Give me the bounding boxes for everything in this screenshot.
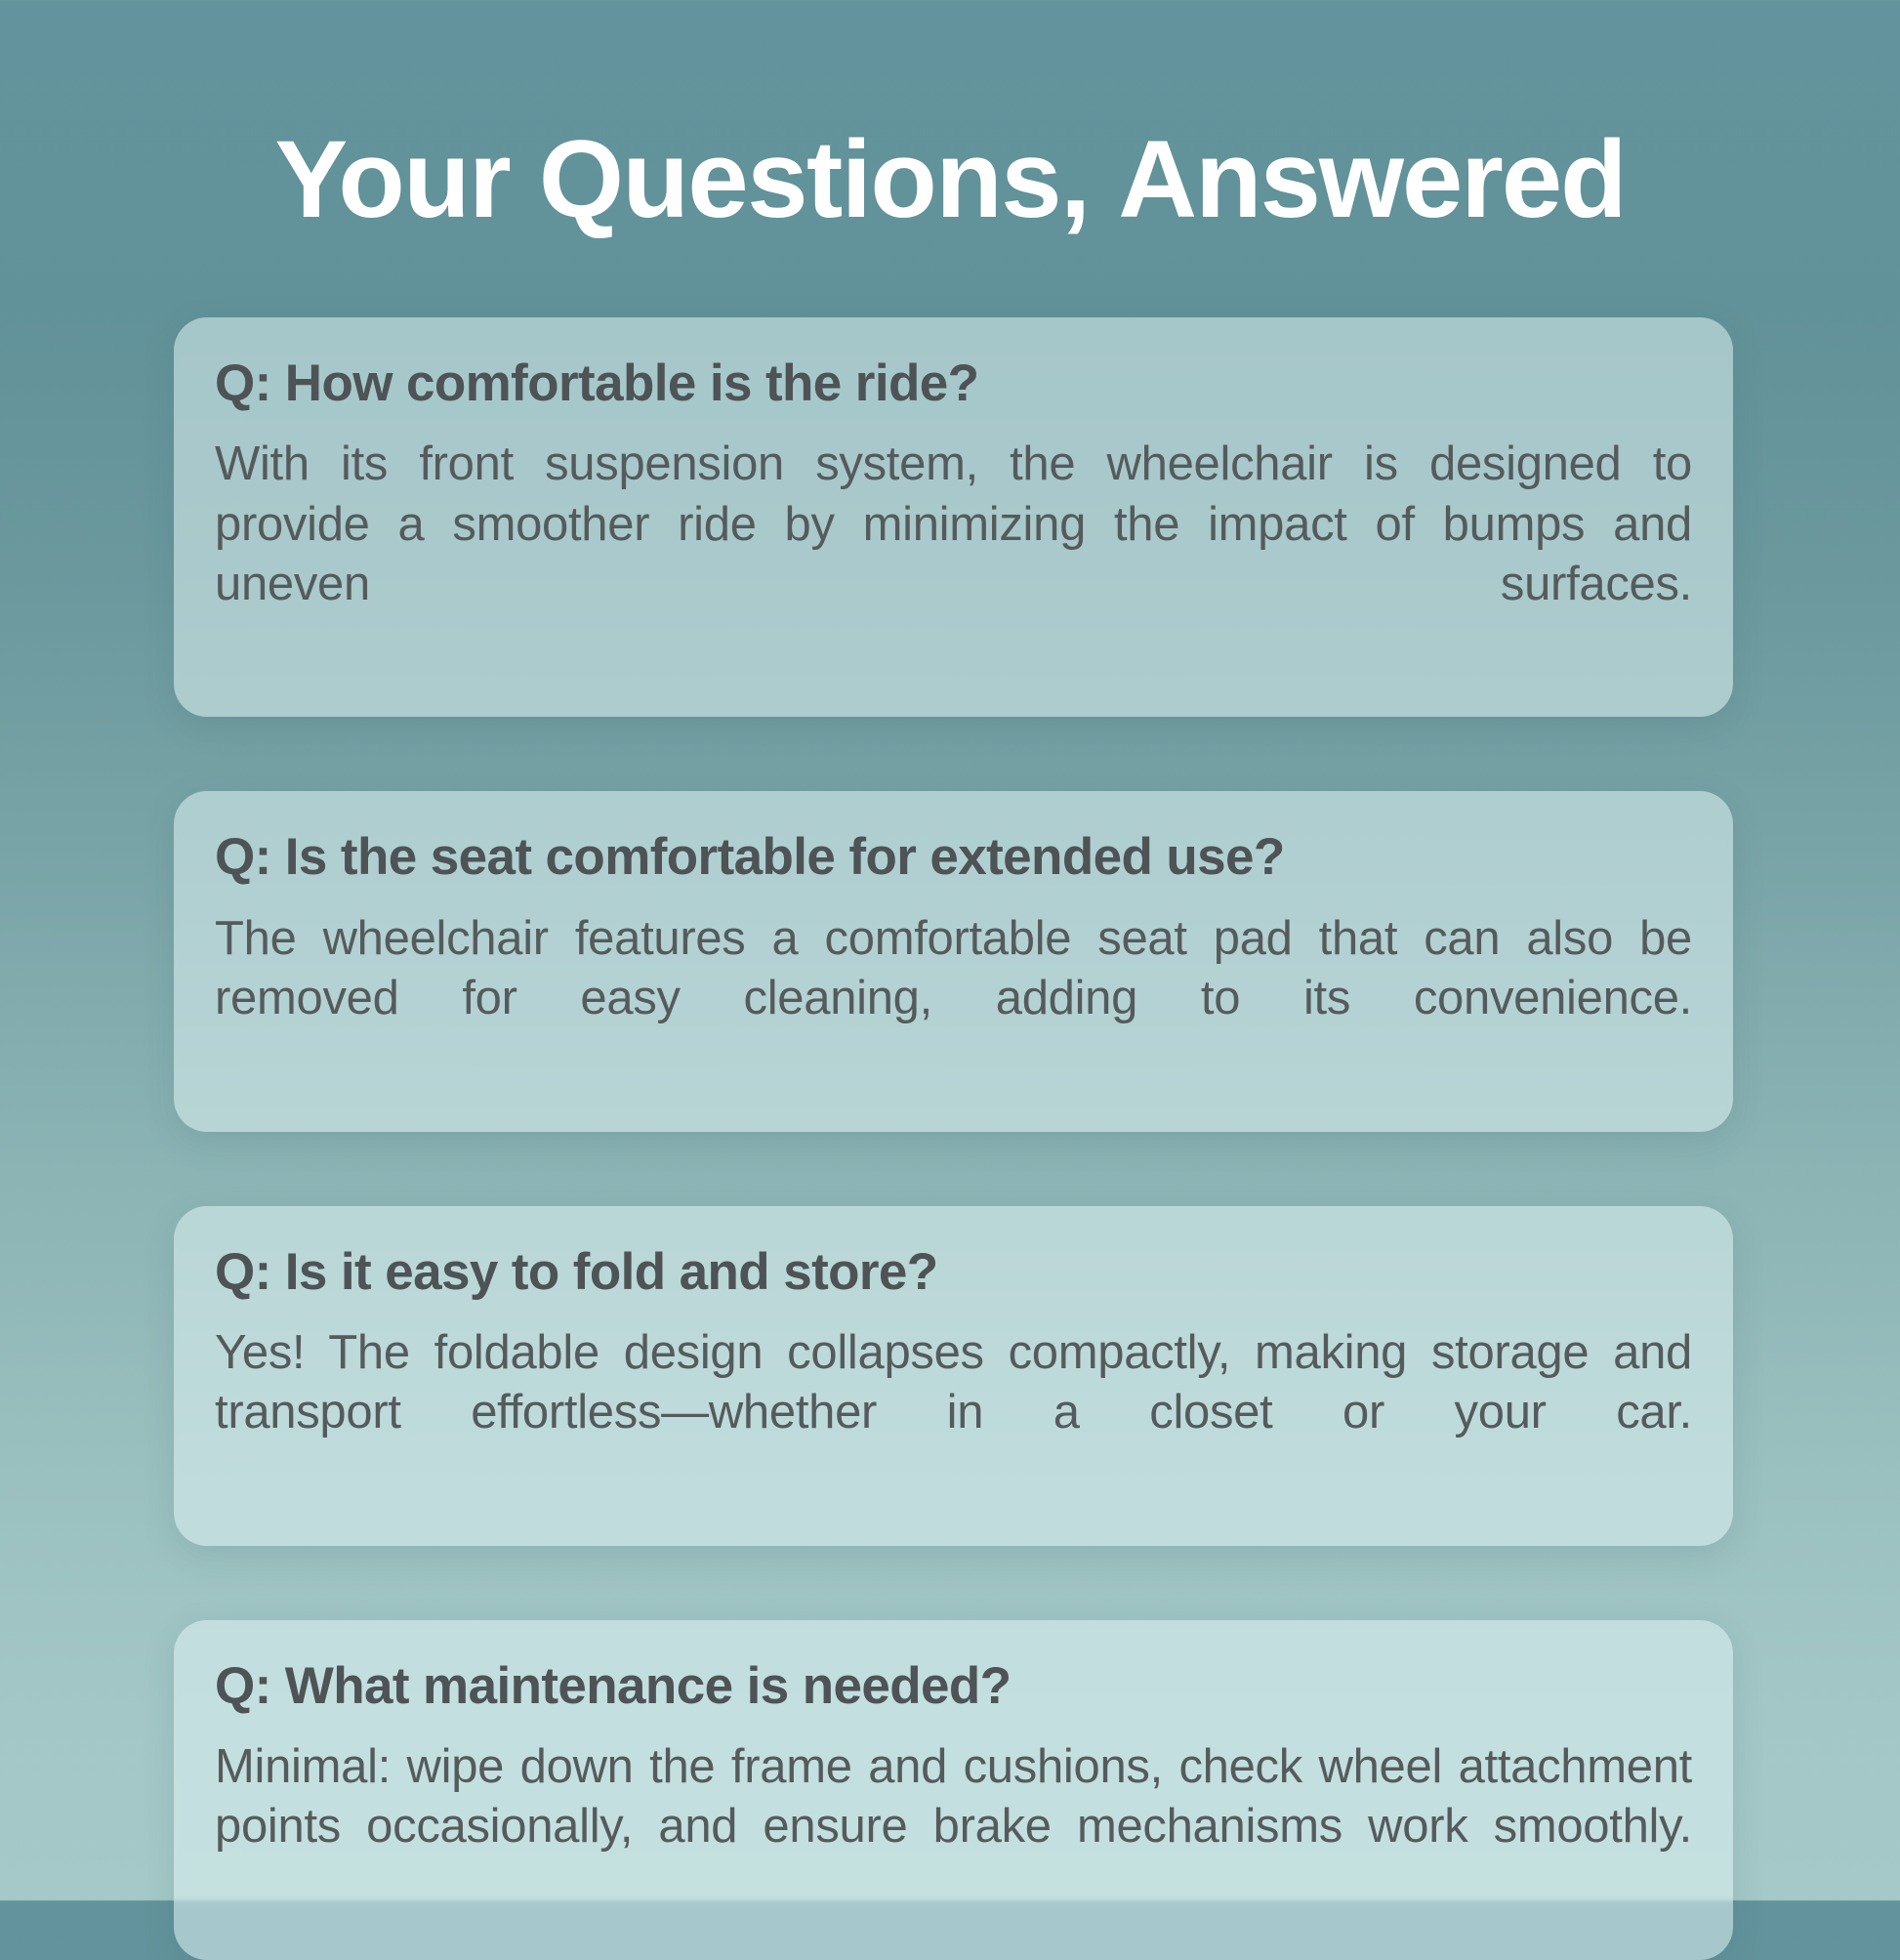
faq-answer: The wheelchair features a comfortable se… [215, 909, 1692, 1089]
faq-question: Q: How comfortable is the ride? [215, 354, 1692, 413]
page-title-light-part: Your Questions, [274, 118, 1089, 240]
faq-page: Your Questions, Answered Q: How comforta… [0, 0, 1900, 1900]
faq-answer: Minimal: wipe down the frame and cushion… [215, 1737, 1692, 1917]
faq-question: Q: Is it easy to fold and store? [215, 1243, 1692, 1302]
faq-question: Q: Is the seat comfortable for extended … [215, 828, 1692, 887]
page-title: Your Questions, Answered [0, 123, 1900, 236]
faq-card-list: Q: How comfortable is the ride? With its… [174, 317, 1733, 1960]
faq-question: Q: What maintenance is needed? [215, 1657, 1692, 1716]
faq-card[interactable]: Q: Is the seat comfortable for extended … [174, 791, 1733, 1131]
page-title-bold-part: Answered [1118, 118, 1625, 240]
faq-card[interactable]: Q: Is it easy to fold and store? Yes! Th… [174, 1206, 1733, 1546]
faq-answer: Yes! The foldable design collapses compa… [215, 1323, 1692, 1503]
page-title-text: Your Questions, Answered [0, 123, 1900, 236]
faq-answer: With its front suspension system, the wh… [215, 435, 1692, 674]
faq-card[interactable]: Q: What maintenance is needed? Minimal: … [174, 1620, 1733, 1960]
faq-card[interactable]: Q: How comfortable is the ride? With its… [174, 317, 1733, 717]
